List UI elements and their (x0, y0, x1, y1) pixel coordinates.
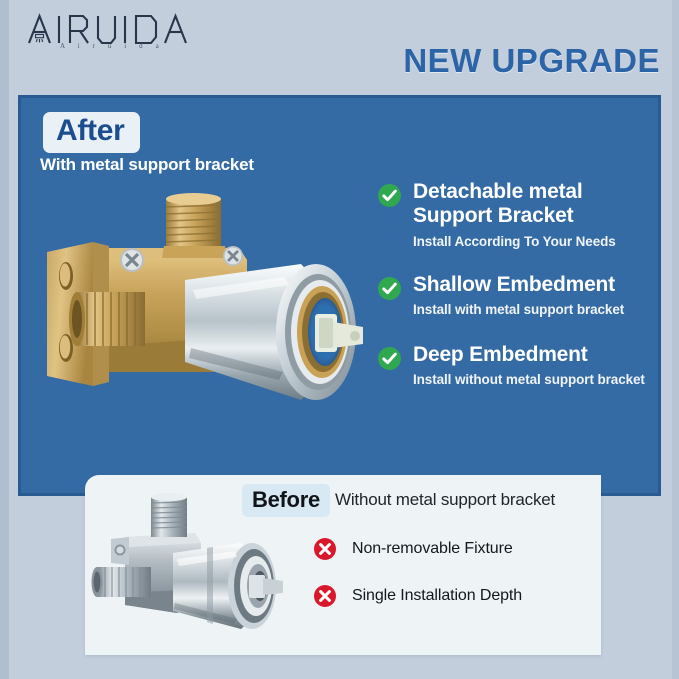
con-item-single-installation-depth: Single Installation Depth (313, 584, 603, 610)
right-edge-strip (672, 0, 679, 679)
page-title: NEW UPGRADE (403, 42, 660, 80)
feature-title-line2: Support Bracket (413, 204, 573, 227)
after-badge: After (43, 112, 140, 153)
header: A i r u i d a NEW UPGRADE (0, 0, 679, 92)
cons-list: Non-removable Fixture Single Installatio… (313, 537, 603, 631)
infographic-page: A i r u i d a NEW UPGRADE After With met… (0, 0, 679, 679)
feature-title-line1: Shallow Embedment (413, 273, 615, 296)
before-subtitle: Without metal support bracket (335, 490, 555, 510)
x-circle-icon (313, 537, 337, 561)
left-edge-strip (0, 0, 9, 679)
before-product-image (89, 493, 311, 653)
feature-subtitle: Install without metal support bracket (413, 372, 662, 387)
airuida-logo-icon (26, 12, 196, 46)
feature-title: Detachable metal Support Bracket (413, 180, 662, 229)
feature-title: Deep Embedment (413, 343, 662, 367)
feature-item-shallow-embedment: Shallow Embedment Install with metal sup… (377, 273, 662, 317)
check-circle-icon (377, 346, 402, 371)
con-label: Single Installation Depth (352, 584, 603, 608)
con-item-non-removable-fixture: Non-removable Fixture (313, 537, 603, 563)
feature-title: Shallow Embedment (413, 273, 662, 297)
after-product-image (33, 186, 381, 426)
feature-list: Detachable metal Support Bracket Install… (377, 180, 662, 405)
x-circle-icon (313, 584, 337, 608)
before-panel: Before Without metal support bracket (85, 475, 601, 655)
check-circle-icon (377, 183, 402, 208)
feature-item-detachable-bracket: Detachable metal Support Bracket Install… (377, 180, 662, 249)
feature-title-line1: Deep Embedment (413, 343, 588, 366)
after-panel: After With metal support bracket (18, 95, 661, 496)
feature-title-line1: Detachable metal (413, 180, 583, 203)
after-subtitle: With metal support bracket (40, 155, 254, 175)
brand-logo-subtext: A i r u i d a (60, 42, 164, 50)
feature-subtitle: Install According To Your Needs (413, 234, 662, 249)
con-label: Non-removable Fixture (352, 537, 603, 561)
feature-subtitle: Install with metal support bracket (413, 302, 662, 317)
feature-item-deep-embedment: Deep Embedment Install without metal sup… (377, 343, 662, 387)
check-circle-icon (377, 276, 402, 301)
brand-logo: A i r u i d a (26, 12, 196, 46)
